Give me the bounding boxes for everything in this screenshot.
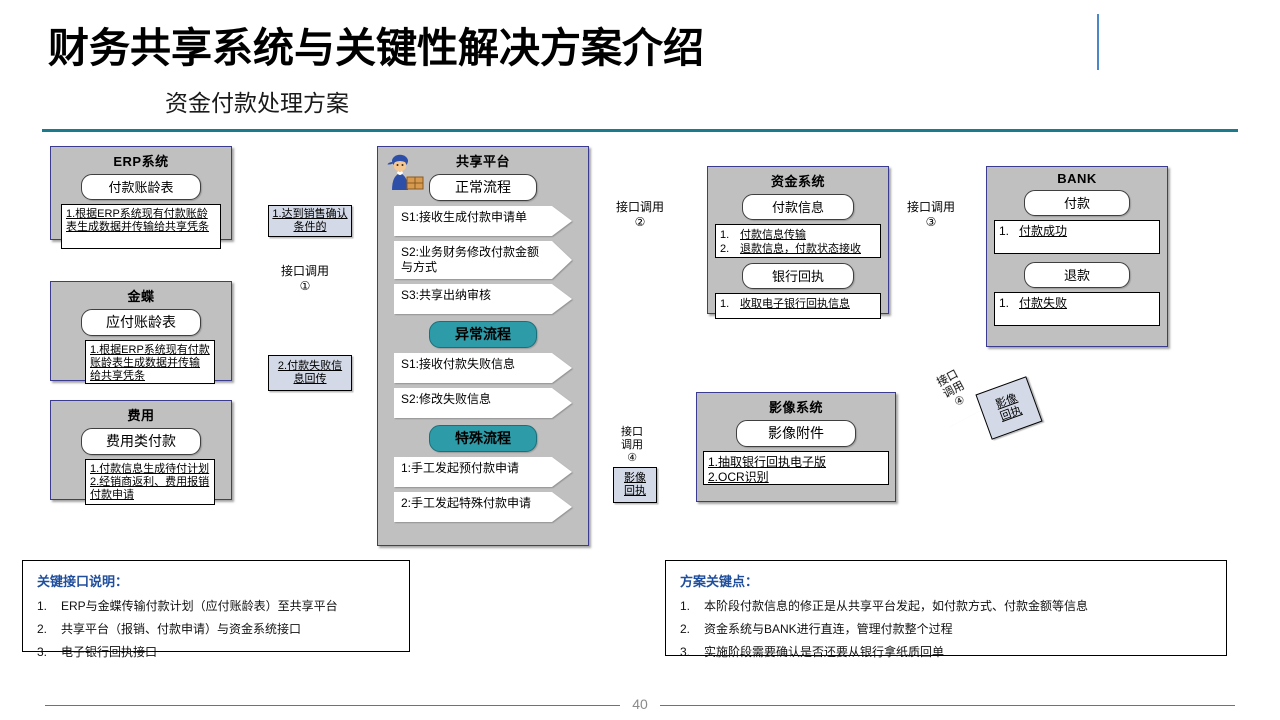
shared-step-special-2[interactable]: 2:手工发起特殊付款申请 [394,492,572,522]
panel-bank[interactable]: BANK 付款 1.付款成功 退款 1.付款失败 [986,166,1168,347]
notes-right: 方案关键点： 1.本阶段付款信息的修正是从共享平台发起，如付款方式、付款金额等信… [665,560,1227,656]
shared-step-abnormal-2[interactable]: S2:修改失败信息 [394,388,572,418]
footer: 40 [0,696,1280,716]
connector-payment-fail: 2.付款失败信 息回传 [268,355,352,391]
connector-interface-4: 接口 调用 ④ [612,421,670,469]
page-number: 40 [0,696,1280,712]
connector-interface-2: 接口调用 ② [604,194,696,236]
panel-kingdee[interactable]: 金蝶 应付账龄表 1.根据ERP系统现有付款账龄表生成数据并传输给共享凭条 [50,281,232,381]
list-item: 3.实施阶段需要确认是否还要从银行拿纸质回单 [680,641,1214,664]
notes-right-list: 1.本阶段付款信息的修正是从共享平台发起，如付款方式、付款金额等信息 2.资金系… [680,595,1214,664]
panel-treasury[interactable]: 资金系统 付款信息 1.付款信息传输 2.退款信息，付款状态接收 银行回执 1.… [707,166,889,314]
panel-expense-note: 1.付款信息生成待付计划 2.经销商返利、费用报销付款申请 [85,459,215,505]
panel-treasury-title: 资金系统 [708,167,888,190]
panel-erp[interactable]: ERP系统 付款账龄表 1.根据ERP系统现有付款账龄表生成数据并传输给共享凭条 [50,146,232,240]
panel-bank-pill-1[interactable]: 付款 [1024,190,1130,216]
page-title: 财务共享系统与关键性解决方案介绍 [48,14,704,74]
connector-interface-1: 接口调用 ① [268,259,362,299]
notes-right-heading: 方案关键点： [680,571,1214,590]
notes-left: 关键接口说明： 1.ERP与金蝶传输付款计划（应付账龄表）至共享平台 2.共享平… [22,560,410,652]
notes-left-list: 1.ERP与金蝶传输付款计划（应付账龄表）至共享平台 2.共享平台（报销、付款申… [37,595,397,664]
panel-bank-pill-2[interactable]: 退款 [1024,262,1130,288]
panel-treasury-items-2: 1.收取电子银行回执信息 [715,293,881,319]
list-item: 1.本阶段付款信息的修正是从共享平台发起，如付款方式、付款金额等信息 [680,595,1214,618]
slide-root: 财务共享系统与关键性解决方案介绍 资金付款处理方案 ERP系统 付款账龄表 1.… [0,0,1280,720]
header-divider [42,129,1238,132]
panel-shared-abnormal-header[interactable]: 异常流程 [429,321,537,348]
list-item: 1.ERP与金蝶传输付款计划（应付账龄表）至共享平台 [37,595,397,618]
panel-shared-special-header[interactable]: 特殊流程 [429,425,537,452]
panel-kingdee-pill[interactable]: 应付账龄表 [81,309,201,336]
panel-erp-note: 1.根据ERP系统现有付款账龄表生成数据并传输给共享凭条 [61,204,221,249]
panel-expense[interactable]: 费用 费用类付款 1.付款信息生成待付计划 2.经销商返利、费用报销付款申请 [50,400,232,500]
panel-bank-items-1: 1.付款成功 [994,220,1160,254]
panel-treasury-pill-1[interactable]: 付款信息 [742,194,854,220]
header-accent-line [1097,14,1099,70]
panel-erp-title: ERP系统 [51,147,231,170]
panel-shared-platform[interactable]: 共享平台 正常流程 S1:接收生成付款申请单 S2:业务财务修改付款金额与方式 … [377,146,589,546]
panel-kingdee-note: 1.根据ERP系统现有付款账龄表生成数据并传输给共享凭条 [85,340,215,384]
panel-expense-pill[interactable]: 费用类付款 [81,428,201,455]
shared-step-special-1[interactable]: 1:手工发起预付款申请 [394,457,572,487]
shared-step-normal-3[interactable]: S3:共享出纳审核 [394,284,572,314]
connector-image-receipt-rotated: 影像 回执 [975,376,1042,440]
connector-interface-3: 接口调用 ③ [898,194,984,236]
shared-step-normal-1[interactable]: S1:接收生成付款申请单 [394,206,572,236]
panel-bank-title: BANK [987,167,1167,186]
panel-erp-pill[interactable]: 付款账龄表 [81,174,201,200]
shared-step-normal-2[interactable]: S2:业务财务修改付款金额与方式 [394,241,572,279]
panel-imaging-note: 1.抽取银行回执电子版 2.OCR识别 [703,451,889,485]
panel-shared-normal-header[interactable]: 正常流程 [429,174,537,201]
list-item: 2.共享平台（报销、付款申请）与资金系统接口 [37,618,397,641]
panel-treasury-pill-2[interactable]: 银行回执 [742,263,854,289]
list-item: 3.电子银行回执接口 [37,641,397,664]
panel-expense-title: 费用 [51,401,231,424]
notes-left-heading: 关键接口说明： [37,571,397,590]
list-item: 2.资金系统与BANK进行直连，管理付款整个过程 [680,618,1214,641]
panel-imaging-title: 影像系统 [697,393,895,416]
connector-image-receipt: 影像 回执 [613,467,657,503]
panel-bank-items-2: 1.付款失败 [994,292,1160,326]
shared-step-abnormal-1[interactable]: S1:接收付款失败信息 [394,353,572,383]
delivery-worker-icon [382,150,426,194]
page-subtitle: 资金付款处理方案 [165,84,349,118]
panel-imaging-pill[interactable]: 影像附件 [736,420,856,447]
connector-sales-condition: 1.达到销售确认条件的 [268,205,352,237]
panel-imaging[interactable]: 影像系统 影像附件 1.抽取银行回执电子版 2.OCR识别 [696,392,896,502]
panel-treasury-items-1: 1.付款信息传输 2.退款信息，付款状态接收 [715,224,881,258]
panel-kingdee-title: 金蝶 [51,282,231,305]
